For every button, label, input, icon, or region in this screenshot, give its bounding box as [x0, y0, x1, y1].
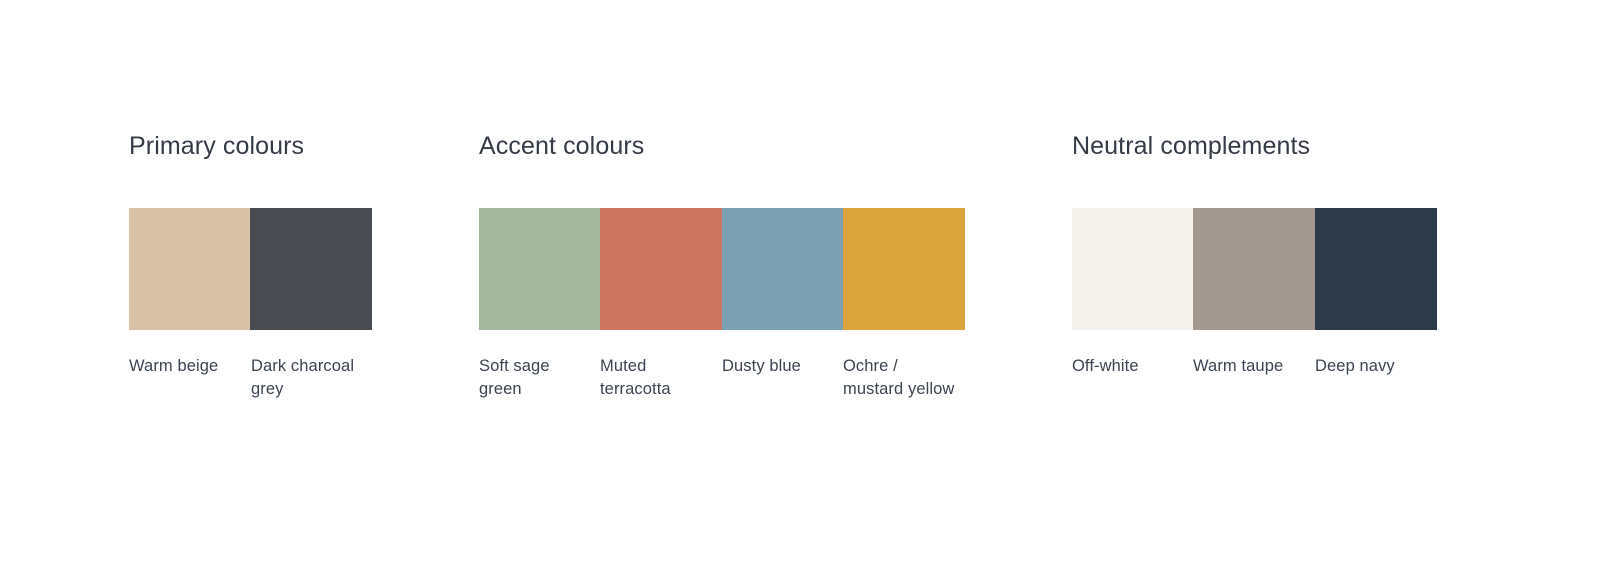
palette-group-primary: Primary colours Warm beige Dark charcoal… — [129, 131, 304, 161]
group-heading-accent: Accent colours — [479, 131, 644, 161]
swatch-label-soft-sage-green: Soft sage green — [479, 355, 600, 401]
swatch-label-off-white: Off-white — [1072, 355, 1193, 378]
swatch-warm-beige[interactable] — [129, 208, 250, 330]
swatch-deep-navy[interactable] — [1315, 208, 1437, 330]
swatch-label-dusty-blue: Dusty blue — [722, 355, 843, 401]
swatch-dusty-blue[interactable] — [722, 208, 843, 330]
swatch-strip-accent — [479, 208, 965, 330]
swatch-label-muted-terracotta: Muted terracotta — [600, 355, 722, 401]
swatch-label-row-accent: Soft sage green Muted terracotta Dusty b… — [479, 355, 965, 401]
swatch-strip-neutral — [1072, 208, 1437, 330]
swatch-label-warm-taupe: Warm taupe — [1193, 355, 1315, 378]
swatch-dark-charcoal-grey[interactable] — [250, 208, 372, 330]
group-heading-neutral: Neutral complements — [1072, 131, 1310, 161]
swatch-label-deep-navy: Deep navy — [1315, 355, 1437, 378]
swatch-soft-sage-green[interactable] — [479, 208, 600, 330]
swatch-warm-taupe[interactable] — [1193, 208, 1315, 330]
swatch-label-ochre-mustard-yellow: Ochre / mustard yellow — [843, 355, 965, 401]
swatch-off-white[interactable] — [1072, 208, 1193, 330]
swatch-strip-primary — [129, 208, 372, 330]
swatch-label-row-neutral: Off-white Warm taupe Deep navy — [1072, 355, 1437, 378]
group-heading-primary: Primary colours — [129, 131, 304, 161]
palette-group-accent: Accent colours Soft sage green Muted ter… — [479, 131, 644, 161]
swatch-ochre-mustard-yellow[interactable] — [843, 208, 965, 330]
swatch-muted-terracotta[interactable] — [600, 208, 722, 330]
palette-group-neutral: Neutral complements Off-white Warm taupe… — [1072, 131, 1310, 161]
swatch-label-row-primary: Warm beige Dark charcoal grey — [129, 355, 373, 401]
colour-palette-board: Primary colours Warm beige Dark charcoal… — [0, 0, 1612, 582]
swatch-label-warm-beige: Warm beige — [129, 355, 251, 401]
swatch-label-dark-charcoal-grey: Dark charcoal grey — [251, 355, 373, 401]
